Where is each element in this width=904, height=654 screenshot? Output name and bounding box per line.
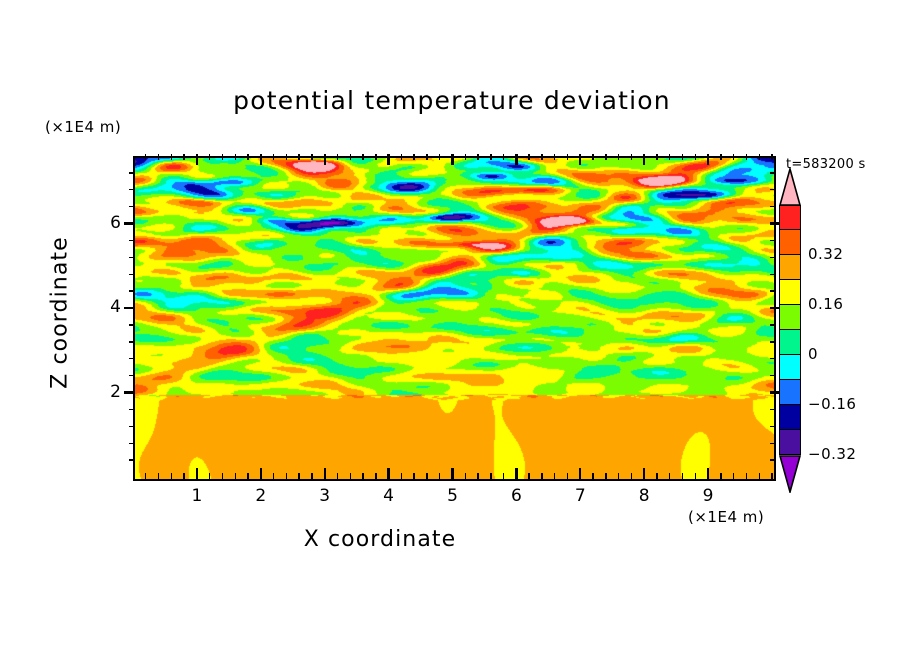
tick-mark <box>129 240 135 241</box>
tick-mark <box>579 154 581 165</box>
tick-mark <box>298 154 299 160</box>
tick-mark <box>129 189 135 190</box>
tick-mark <box>337 154 338 160</box>
tick-mark <box>770 290 776 291</box>
colorbar-band <box>779 205 801 230</box>
tick-mark <box>145 154 146 160</box>
tick-mark <box>362 473 363 479</box>
tick-mark <box>129 172 135 173</box>
tick-mark <box>129 206 135 207</box>
tick-mark <box>669 154 670 160</box>
tick-mark <box>129 358 135 359</box>
tick-mark <box>541 154 542 160</box>
tick-mark <box>124 307 135 309</box>
tick-mark <box>746 473 747 479</box>
colorbar-band <box>779 330 801 355</box>
tick-mark <box>720 473 721 479</box>
tick-mark <box>669 473 670 479</box>
tick-mark <box>770 206 776 207</box>
tick-mark <box>183 154 184 160</box>
tick-mark <box>541 473 542 479</box>
tick-mark <box>605 154 606 160</box>
tick-mark <box>401 473 402 479</box>
tick-mark <box>439 473 440 479</box>
tick-mark <box>183 473 184 479</box>
tick-mark <box>707 468 709 479</box>
tick-mark <box>129 409 135 410</box>
tick-mark <box>158 154 159 160</box>
tick-mark <box>350 154 351 160</box>
colorbar-tick-label: 0.16 <box>808 295 843 313</box>
tick-mark <box>387 154 389 165</box>
tick-mark <box>222 154 223 160</box>
tick-mark <box>222 473 223 479</box>
colorbar-tick-label: −0.16 <box>808 395 856 413</box>
tick-mark <box>451 468 453 479</box>
tick-mark <box>171 154 172 160</box>
y-tick-label: 2 <box>91 382 121 402</box>
tick-mark <box>656 154 657 160</box>
tick-mark <box>618 473 619 479</box>
tick-mark <box>770 459 776 460</box>
tick-mark <box>129 257 135 258</box>
tick-mark <box>196 154 198 165</box>
tick-mark <box>129 290 135 291</box>
colorbar-band <box>779 305 801 330</box>
tick-mark <box>770 358 776 359</box>
tick-mark <box>682 473 683 479</box>
figure-root: potential temperature deviation (×1E4 m)… <box>0 0 904 654</box>
tick-mark <box>260 154 262 165</box>
x-tick-label: 6 <box>501 486 531 506</box>
tick-mark <box>273 473 274 479</box>
colorbar-band <box>779 230 801 255</box>
tick-mark <box>528 154 529 160</box>
page-title: potential temperature deviation <box>0 86 904 115</box>
x-tick-label: 7 <box>565 486 595 506</box>
tick-mark <box>656 473 657 479</box>
y-tick-label: 4 <box>91 297 121 317</box>
tick-mark <box>746 154 747 160</box>
tick-mark <box>631 473 632 479</box>
tick-mark <box>124 222 135 224</box>
tick-mark <box>695 154 696 160</box>
tick-mark <box>324 468 326 479</box>
tick-mark <box>770 443 776 444</box>
tick-mark <box>477 473 478 479</box>
tick-mark <box>171 473 172 479</box>
tick-mark <box>129 341 135 342</box>
tick-mark <box>618 154 619 160</box>
tick-mark <box>770 409 776 410</box>
tick-mark <box>413 473 414 479</box>
x-tick-label: 2 <box>246 486 276 506</box>
tick-mark <box>337 473 338 479</box>
colorbar-band <box>779 355 801 380</box>
tick-mark <box>235 154 236 160</box>
tick-mark <box>695 473 696 479</box>
tick-mark <box>158 473 159 479</box>
tick-mark <box>490 154 491 160</box>
tick-mark <box>273 154 274 160</box>
tick-mark <box>465 473 466 479</box>
colorbar-tick-label: −0.32 <box>808 445 856 463</box>
x-tick-label: 4 <box>374 486 404 506</box>
colorbar-tick-label: 0.32 <box>808 245 843 263</box>
tick-mark <box>592 154 593 160</box>
tick-mark <box>129 443 135 444</box>
tick-mark <box>643 154 645 165</box>
tick-mark <box>324 154 326 165</box>
tick-mark <box>592 473 593 479</box>
colorbar-top-cap <box>779 168 801 206</box>
tick-mark <box>129 459 135 460</box>
tick-mark <box>770 240 776 241</box>
x-tick-label: 9 <box>693 486 723 506</box>
tick-mark <box>770 375 776 376</box>
tick-mark <box>129 274 135 275</box>
tick-mark <box>350 473 351 479</box>
tick-mark <box>771 154 772 160</box>
tick-mark <box>129 426 135 427</box>
x-axis-title: X coordinate <box>0 527 760 552</box>
contour-field-canvas <box>135 158 774 479</box>
tick-mark <box>554 473 555 479</box>
tick-mark <box>554 154 555 160</box>
tick-mark <box>129 324 135 325</box>
tick-mark <box>733 154 734 160</box>
tick-mark <box>298 473 299 479</box>
x-tick-label: 3 <box>310 486 340 506</box>
tick-mark <box>770 324 776 325</box>
tick-mark <box>515 154 517 165</box>
tick-mark <box>387 468 389 479</box>
colorbar-band <box>779 280 801 305</box>
tick-mark <box>286 154 287 160</box>
tick-mark <box>145 473 146 479</box>
tick-mark <box>503 154 504 160</box>
tick-mark <box>477 154 478 160</box>
tick-mark <box>426 154 427 160</box>
tick-mark <box>401 154 402 160</box>
tick-mark <box>770 189 776 190</box>
colorbar-band <box>779 380 801 405</box>
y-tick-label: 6 <box>91 213 121 233</box>
tick-mark <box>515 468 517 479</box>
tick-mark <box>129 375 135 376</box>
tick-mark <box>579 468 581 479</box>
tick-mark <box>375 473 376 479</box>
tick-mark <box>247 154 248 160</box>
tick-mark <box>759 154 760 160</box>
tick-mark <box>413 154 414 160</box>
colorbar-band <box>779 255 801 280</box>
tick-mark <box>260 468 262 479</box>
colorbar-bottom-cap <box>779 455 801 493</box>
tick-mark <box>465 154 466 160</box>
tick-mark <box>426 473 427 479</box>
y-axis-unit-label: (×1E4 m) <box>45 118 121 136</box>
tick-mark <box>643 468 645 479</box>
x-tick-label: 5 <box>438 486 468 506</box>
tick-mark <box>362 154 363 160</box>
tick-mark <box>311 473 312 479</box>
tick-mark <box>567 473 568 479</box>
colorbar-band <box>779 430 801 455</box>
tick-mark <box>439 154 440 160</box>
tick-mark <box>567 154 568 160</box>
contour-plot-area <box>133 156 776 481</box>
tick-mark <box>311 154 312 160</box>
tick-mark <box>759 473 760 479</box>
tick-mark <box>196 468 198 479</box>
tick-mark <box>770 257 776 258</box>
tick-mark <box>771 473 772 479</box>
tick-mark <box>770 426 776 427</box>
tick-mark <box>720 154 721 160</box>
tick-mark <box>209 473 210 479</box>
tick-mark <box>490 473 491 479</box>
x-axis-unit-label: (×1E4 m) <box>688 508 764 526</box>
tick-mark <box>733 473 734 479</box>
tick-mark <box>770 172 776 173</box>
y-axis-title: Z coordinate <box>48 213 73 413</box>
tick-mark <box>286 473 287 479</box>
tick-mark <box>375 154 376 160</box>
colorbar-tick-label: 0 <box>808 345 818 363</box>
tick-mark <box>631 154 632 160</box>
tick-mark <box>209 154 210 160</box>
tick-mark <box>528 473 529 479</box>
colorbar-band <box>779 405 801 430</box>
tick-mark <box>503 473 504 479</box>
x-tick-label: 8 <box>629 486 659 506</box>
tick-mark <box>707 154 709 165</box>
tick-mark <box>770 274 776 275</box>
tick-mark <box>451 154 453 165</box>
tick-mark <box>770 341 776 342</box>
tick-mark <box>682 154 683 160</box>
x-tick-label: 1 <box>182 486 212 506</box>
tick-mark <box>247 473 248 479</box>
tick-mark <box>235 473 236 479</box>
colorbar <box>779 205 801 455</box>
tick-mark <box>605 473 606 479</box>
tick-mark <box>124 391 135 393</box>
